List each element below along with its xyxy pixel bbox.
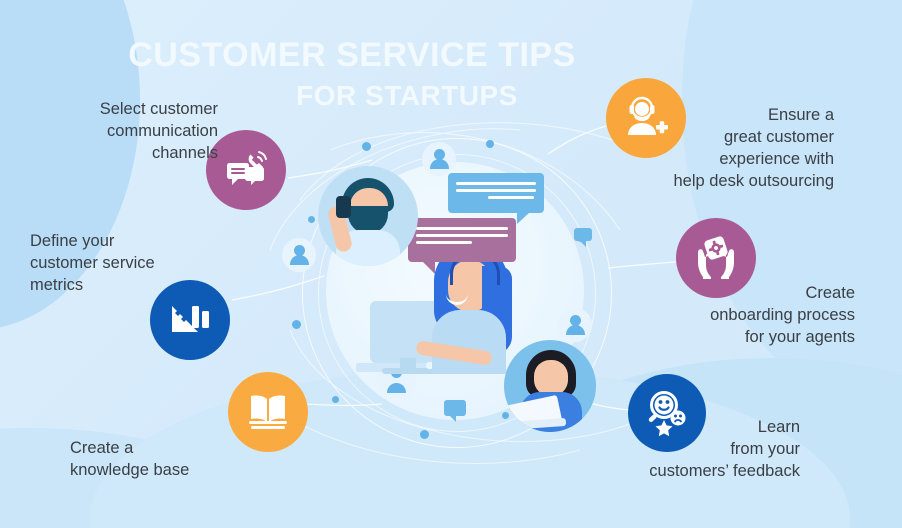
avatar-badge <box>282 238 316 272</box>
tip-line: Select customer <box>48 99 218 121</box>
bar-chart-ruler-icon <box>168 298 212 342</box>
tip-line: metrics <box>30 275 190 297</box>
chat-bubble-mini <box>444 400 466 416</box>
tip-line: knowledge base <box>70 460 260 482</box>
tip-line: for your agents <box>640 327 855 349</box>
avatar-badge <box>558 308 592 342</box>
woman-face <box>534 360 568 396</box>
tip-line: help desk outsourcing <box>614 171 834 193</box>
orbit-dot <box>292 320 301 329</box>
customer-support-hub-illustration <box>296 128 616 458</box>
tip-line: Create <box>640 283 855 305</box>
tip-line: experience with <box>614 149 834 171</box>
tip-line: customer service <box>30 253 190 275</box>
phone-chat-icon <box>223 147 269 193</box>
tip-label-onboarding: Create onboarding process for your agent… <box>640 283 855 349</box>
chat-bubble-blue <box>448 173 544 213</box>
infographic-canvas: CUSTOMER SERVICE TIPS FOR STARTUPS <box>0 0 902 528</box>
title-line-1: CUSTOMER SERVICE TIPS <box>92 38 612 74</box>
chat-bubble-purple <box>408 218 516 262</box>
tip-line: Define your <box>30 231 190 253</box>
open-book-icon <box>245 390 291 434</box>
tip-label-knowledge: Create a knowledge base <box>70 438 260 482</box>
orbit-dot <box>332 396 339 403</box>
tip-line: Create a <box>70 438 260 460</box>
tip-line: Learn <box>600 417 800 439</box>
orbit-dot <box>308 216 315 223</box>
tip-line: customers’ feedback <box>600 461 800 483</box>
man-on-phone-figure <box>318 166 418 266</box>
tip-line: from your <box>600 439 800 461</box>
chat-bubble-mini <box>574 228 592 241</box>
tip-line: channels <box>48 143 218 165</box>
avatar-body-icon <box>430 159 449 169</box>
tip-line: Ensure a <box>614 105 834 127</box>
avatar-body-icon <box>290 255 309 265</box>
tip-label-channels: Select customer communication channels <box>48 99 218 165</box>
tip-line: onboarding process <box>640 305 855 327</box>
hands-gear-icon <box>693 235 739 281</box>
agent-body <box>432 310 506 374</box>
tip-line: great customer <box>614 127 834 149</box>
tip-label-helpdesk: Ensure a great customer experience with … <box>614 105 834 193</box>
avatar-badge <box>422 142 456 176</box>
orbit-dot <box>362 142 371 151</box>
woman-with-laptop-figure <box>504 340 596 432</box>
avatar-body-icon <box>566 325 585 335</box>
orbit-dot <box>486 140 494 148</box>
tip-icon-channels[interactable] <box>206 130 286 210</box>
phone-icon <box>336 196 351 218</box>
tip-label-metrics: Define your customer service metrics <box>30 231 190 297</box>
tip-line: communication <box>48 121 218 143</box>
orbit-dot <box>420 430 429 439</box>
tip-label-feedback: Learn from your customers’ feedback <box>600 417 800 483</box>
